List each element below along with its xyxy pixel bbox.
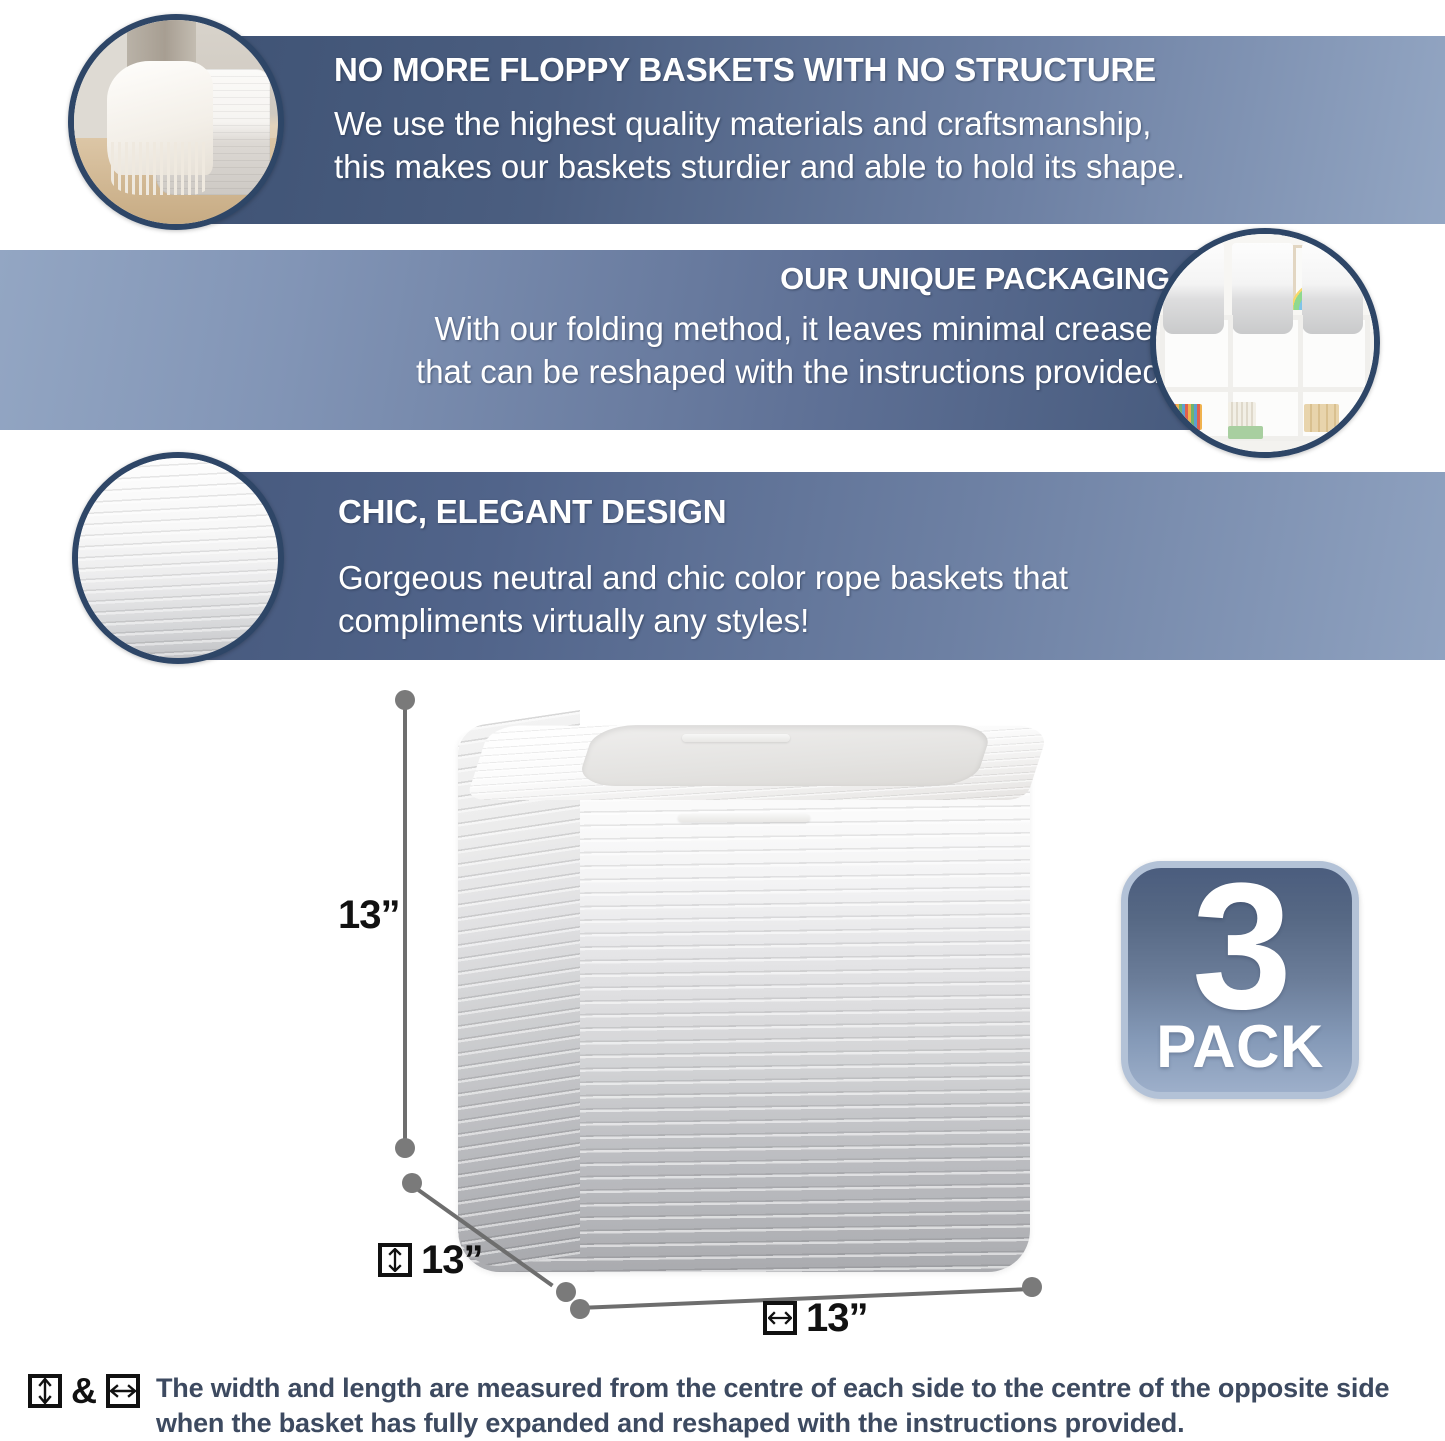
vertical-arrow-icon [28,1374,62,1408]
pack-quantity-word: PACK [1156,1017,1324,1077]
height-dimension-label: 13” [338,895,400,935]
depth-dimension-dot-end [556,1282,576,1302]
pack-quantity-badge: 3 PACK [1121,861,1359,1099]
photo2-basket-2 [1232,243,1293,335]
depth-dimension-dot-start [402,1173,422,1193]
photo-playroom-shelf [1150,228,1380,458]
horizontal-arrow-icon [763,1301,797,1335]
depth-dimension-label-group: 13” [378,1240,483,1280]
basket-handle-front [678,814,810,822]
depth-dimension-label: 13” [421,1240,483,1280]
photo2-basket-3 [1302,243,1363,335]
height-dimension-dot-top [395,690,415,710]
disclaimer-line-1: The width and length are measured from t… [156,1371,1389,1406]
banner-body-line-1: Gorgeous neutral and chic color rope bas… [338,557,1445,600]
banner-body-line-1: With our folding method, it leaves minim… [0,307,1170,351]
photo2-shelf-divider [1160,387,1369,392]
horizontal-arrow-icon [106,1374,140,1408]
product-basket-illustration [430,672,1050,1292]
height-dimension-line [403,700,407,1148]
disclaimer-ampersand: & [71,1375,97,1407]
photo-rope-texture-image [78,458,278,658]
banner-body-line-2: this makes our baskets sturdier and able… [334,146,1445,189]
photo-rope-texture [72,452,284,664]
photo2-basket-1 [1163,243,1224,335]
photo2-abacus-toy [1173,404,1201,430]
photo-playroom-shelf-image [1156,234,1374,452]
photo1-blanket-fringe [111,142,209,195]
photo-blanket-basket-image [74,20,278,224]
width-dimension-label: 13” [806,1298,868,1338]
banner-body-line-2: that can be reshaped with the instructio… [0,350,1170,394]
pack-quantity-number: 3 [1192,873,1288,1021]
width-dimension-dot-start [570,1299,590,1319]
photo2-shelf-post-2 [1298,315,1303,441]
banner-body-chic-design: Gorgeous neutral and chic color rope bas… [338,557,1445,643]
width-dimension-label-group: 13” [763,1298,868,1338]
measurement-disclaimer: & The width and length are measured from… [28,1371,1428,1441]
feature-banner-no-structure: NO MORE FLOPPY BASKETS WITH NO STRUCTURE… [208,36,1445,224]
banner-body-line-2: compliments virtually any styles! [338,600,1445,643]
disclaimer-line-2: when the basket has fully expanded and r… [156,1406,1389,1441]
photo3-rope-coils [78,458,278,658]
photo2-green-box [1228,426,1263,439]
banner-body-no-structure: We use the highest quality materials and… [334,103,1445,189]
banner-title-chic-design: CHIC, ELEGANT DESIGN [338,494,1445,531]
banner-title-no-structure: NO MORE FLOPPY BASKETS WITH NO STRUCTURE [334,52,1445,89]
banner-body-line-1: We use the highest quality materials and… [334,103,1445,146]
feature-banner-chic-design: CHIC, ELEGANT DESIGN Gorgeous neutral an… [160,472,1445,660]
basket-handle-rear [682,734,790,742]
vertical-arrow-icon [378,1243,412,1277]
feature-banner-unique-packaging: OUR UNIQUE PACKAGING With our folding me… [0,250,1320,430]
disclaimer-icon-group: & [28,1371,140,1408]
banner-body-unique-packaging: With our folding method, it leaves minim… [0,307,1170,394]
disclaimer-text: The width and length are measured from t… [156,1371,1389,1441]
photo2-wooden-blocks [1304,404,1339,432]
height-dimension-dot-bottom [395,1138,415,1158]
width-dimension-dot-end [1022,1277,1042,1297]
photo-blanket-basket [68,14,284,230]
banner-title-unique-packaging: OUR UNIQUE PACKAGING [0,262,1170,297]
